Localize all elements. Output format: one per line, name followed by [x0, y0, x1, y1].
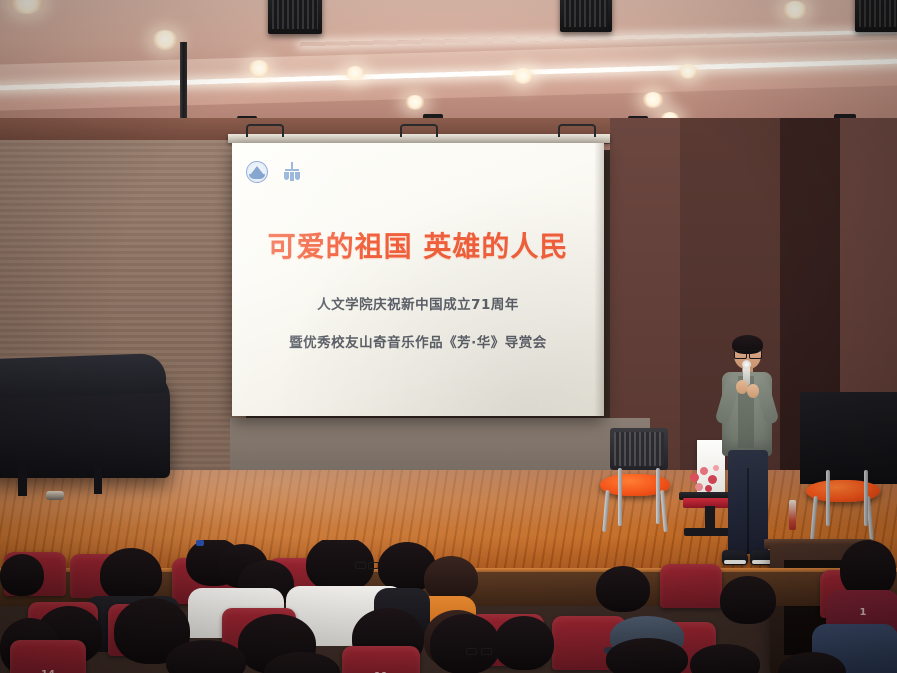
audience-head: [720, 576, 776, 624]
eyeglasses-icon: [734, 350, 761, 357]
recessed-downlight: [248, 60, 270, 77]
piano-leg: [18, 464, 27, 496]
recessed-downlight: [345, 66, 365, 81]
institute-emblem-icon: [282, 162, 302, 182]
projection-screen-rail: [228, 134, 610, 143]
chair-leg: [602, 490, 610, 532]
chair-leg: [660, 490, 668, 532]
auditorium-photo: 可爱的祖国 英雄的人民 人文学院庆祝新中国成立71周年 暨优秀校友山奇音乐作品《…: [0, 0, 897, 673]
recessed-downlight: [782, 1, 808, 19]
projection-screen: 可爱的祖国 英雄的人民 人文学院庆祝新中国成立71周年 暨优秀校友山奇音乐作品《…: [232, 143, 604, 416]
grand-piano-covered: [0, 368, 170, 478]
floor-cable-object: [46, 491, 64, 500]
seat-number: 14: [41, 669, 55, 673]
audience-head: [690, 644, 760, 673]
chair-leg: [826, 470, 830, 526]
screen-hook: [400, 124, 438, 137]
auditorium-seat: [660, 564, 722, 608]
spotlight-barn-door: [564, 0, 608, 27]
audience-area: 1 1 7: [0, 540, 897, 673]
piano-leg: [94, 466, 102, 494]
auditorium-seat: 11: [342, 646, 420, 673]
chair-leg: [656, 468, 660, 524]
chair-backrest: [610, 428, 668, 470]
piano-cover: [0, 353, 166, 399]
eyeglasses-icon: [466, 648, 494, 653]
screen-shadow-edge: [594, 143, 604, 416]
chair-leg: [864, 470, 868, 526]
auditorium-seat: 14: [10, 640, 86, 673]
university-emblem-icon: [246, 161, 268, 183]
audience-head: [430, 614, 500, 673]
recessed-downlight: [642, 92, 664, 108]
spotlight-barn-door: [272, 0, 317, 29]
presenter-trousers: [728, 450, 768, 554]
recessed-downlight: [405, 95, 425, 110]
slide-subtitle-line1: 人文学院庆祝新中国成立71周年: [232, 293, 604, 313]
audience-head: [596, 566, 650, 612]
hair-clip: [196, 540, 204, 546]
recessed-downlight: [152, 30, 178, 50]
slide-logo-group: [246, 161, 302, 183]
stage-spotlight-par: [855, 0, 897, 32]
seat-number: 1: [860, 607, 867, 618]
stage-spotlight-par: [268, 0, 322, 34]
audience-head: [606, 638, 688, 673]
audience-head: [0, 554, 44, 596]
chair-leg: [810, 496, 818, 540]
slide-title: 可爱的祖国 英雄的人民: [232, 225, 604, 265]
chair-mesh: [614, 432, 664, 466]
recessed-downlight: [512, 68, 534, 84]
chair-orange-left: [600, 428, 672, 536]
chair-orange-right: [806, 452, 886, 552]
spotlight-barn-door: [859, 0, 897, 27]
audience-head: [100, 548, 162, 602]
screen-hook: [246, 124, 284, 137]
presenter-hand-right: [747, 384, 759, 398]
recessed-downlight: [678, 64, 698, 79]
audience-head: [494, 616, 554, 670]
stage-spotlight-par: [560, 0, 612, 32]
chair-leg: [618, 468, 622, 526]
water-bottle: [789, 500, 796, 530]
microphone-head-icon: [742, 360, 751, 369]
recessed-downlight: [10, 0, 44, 14]
slide-subtitle-line2: 暨优秀校友山奇音乐作品《芳·华》导赏会: [232, 331, 604, 351]
screen-hook: [558, 124, 596, 137]
